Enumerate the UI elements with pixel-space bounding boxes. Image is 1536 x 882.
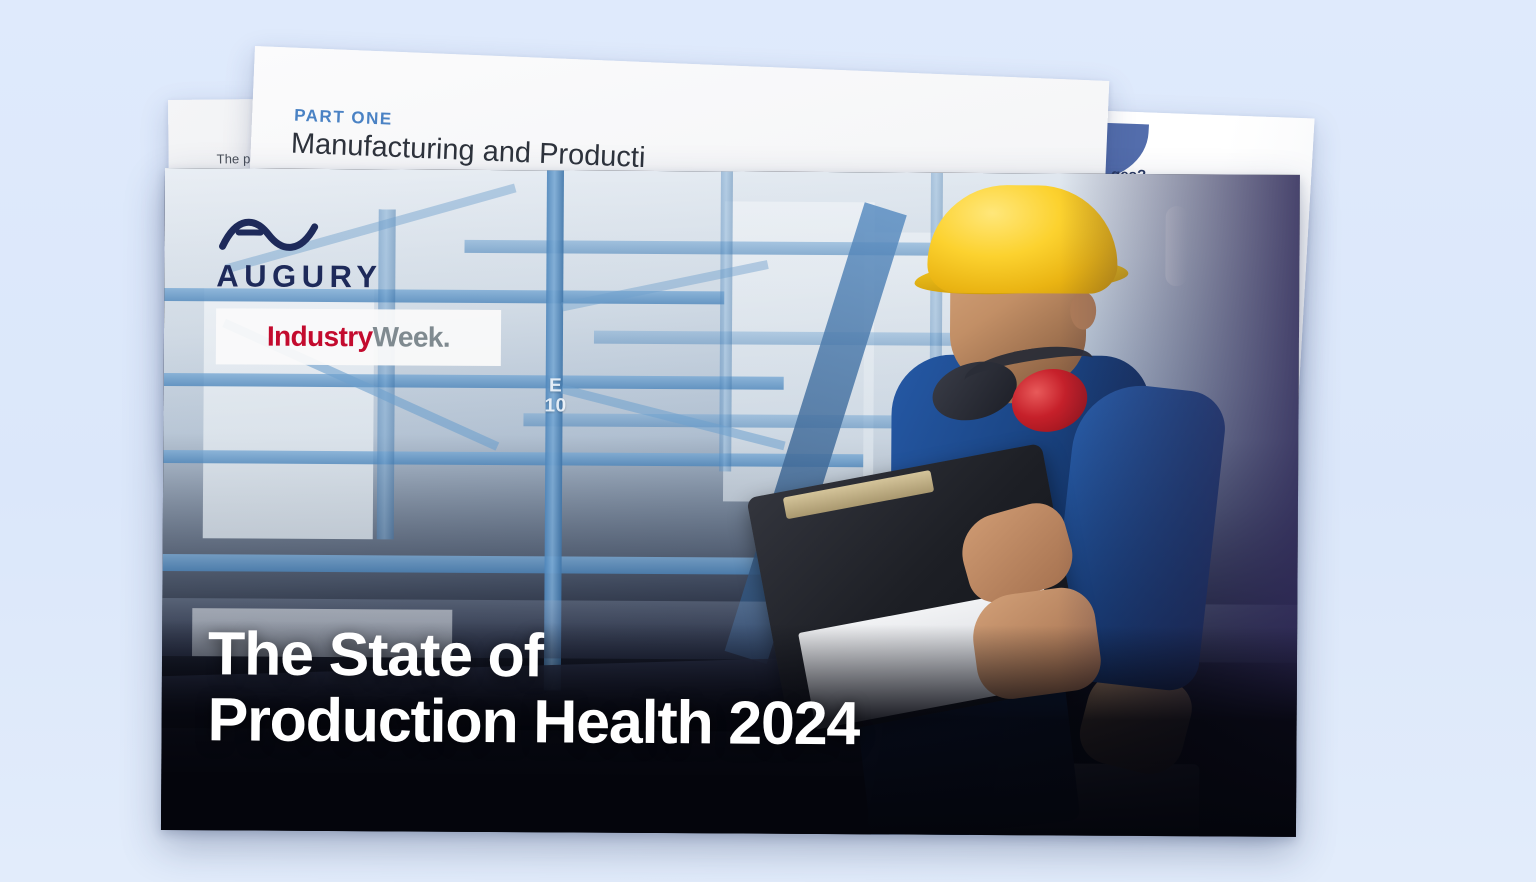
cover-title-line-2: Production Health 2024 <box>207 687 859 756</box>
augury-wordmark: AUGURY <box>216 260 516 293</box>
augury-logo-icon <box>216 212 324 259</box>
part-one-kicker: PART ONE <box>294 106 393 130</box>
industryweek-logo: IndustryWeek. <box>216 308 501 366</box>
cover-title: The State of Production Health 2024 <box>207 622 859 757</box>
rack-label: E 10 <box>535 376 575 416</box>
back-sheet-text: The p <box>217 151 251 166</box>
cover-sheet[interactable]: E 10 <box>161 168 1300 837</box>
industryweek-second: Week <box>372 321 442 352</box>
cover-title-line-1: The State of <box>208 620 543 690</box>
industryweek-wordmark: IndustryWeek. <box>267 323 450 352</box>
industryweek-first: Industry <box>267 321 373 353</box>
page-stage: The p ges? 38% 36% 35% <box>0 0 1536 882</box>
cover-branding: AUGURY IndustryWeek. <box>216 212 517 366</box>
industryweek-dot: . <box>443 322 450 353</box>
part-one-title: Manufacturing and Producti <box>290 128 646 176</box>
